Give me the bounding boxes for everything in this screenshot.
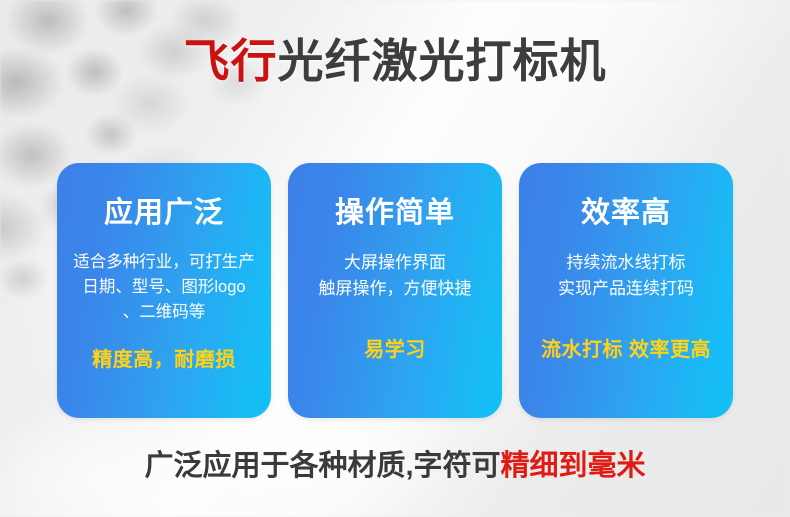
feature-card-operation: 操作简单 大屏操作界面 触屏操作，方便快捷 易学习 [288,163,502,418]
feature-card-highlight: 精度高，耐磨损 [57,350,271,370]
bottom-caption: 广泛应用于各种材质,字符可精细到毫米 [0,452,790,481]
feature-card-heading: 应用广泛 [57,199,271,228]
page-title-rest: 光纤激光打标机 [278,35,607,87]
feature-card-list: 应用广泛 适合多种行业，可打生产 日期、型号、图形logo 、二维码等 精度高，… [57,163,733,418]
feature-card-highlight: 流水打标 效率更高 [519,340,733,360]
feature-card-application: 应用广泛 适合多种行业，可打生产 日期、型号、图形logo 、二维码等 精度高，… [57,163,271,418]
feature-card-heading: 效率高 [519,199,733,228]
bottom-caption-highlight: 精细到毫米 [501,450,646,482]
page-title: 飞行光纤激光打标机 [0,38,790,84]
feature-card-highlight: 易学习 [288,340,502,360]
feature-card-body: 适合多种行业，可打生产 日期、型号、图形logo 、二维码等 [51,250,277,325]
promo-banner: 飞行光纤激光打标机 应用广泛 适合多种行业，可打生产 日期、型号、图形logo … [0,0,790,517]
feature-card-body: 持续流水线打标 实现产品连续打码 [519,250,733,302]
feature-card-efficiency: 效率高 持续流水线打标 实现产品连续打码 流水打标 效率更高 [519,163,733,418]
feature-card-body: 大屏操作界面 触屏操作，方便快捷 [288,250,502,302]
feature-card-heading: 操作简单 [288,199,502,228]
page-title-highlight: 飞行 [184,35,278,87]
bottom-caption-lead: 广泛应用于各种材质,字符可 [144,450,500,482]
